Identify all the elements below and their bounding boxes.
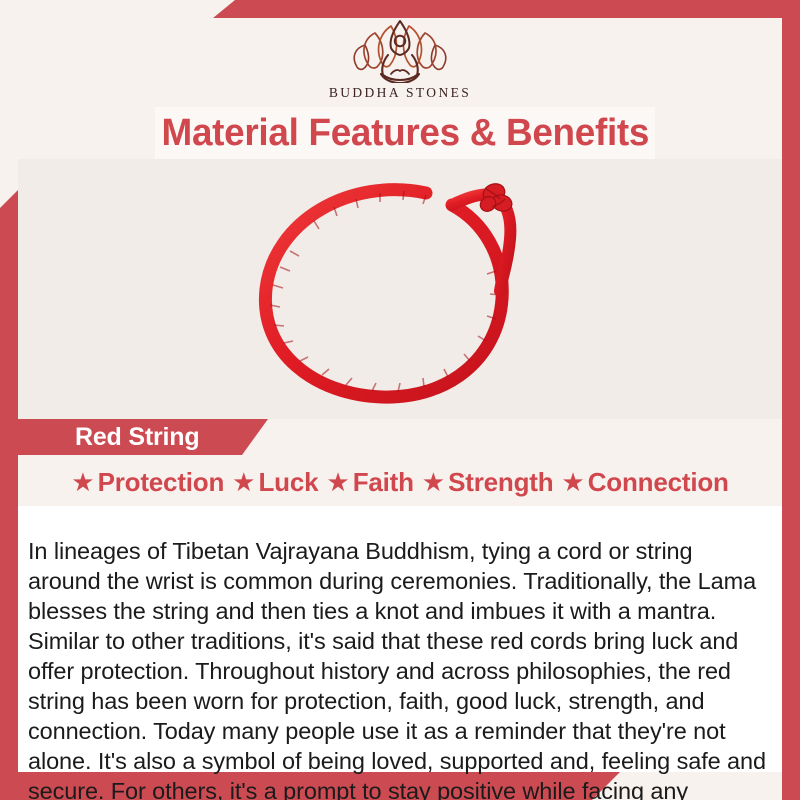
page-title-box: Material Features & Benefits xyxy=(155,107,655,159)
page-title: Material Features & Benefits xyxy=(161,112,649,155)
description-text: In lineages of Tibetan Vajrayana Buddhis… xyxy=(28,536,768,800)
red-braided-string-bracelet-icon xyxy=(18,159,782,419)
left-red-strip xyxy=(0,190,18,800)
star-icon: ★ xyxy=(71,469,94,495)
benefit-item: ★ Protection xyxy=(71,467,224,498)
product-image xyxy=(18,159,782,419)
benefit-label: Connection xyxy=(588,467,729,498)
star-icon: ★ xyxy=(326,469,349,495)
benefit-label: Protection xyxy=(98,467,225,498)
benefit-item: ★ Faith xyxy=(326,467,413,498)
star-icon: ★ xyxy=(561,469,584,495)
benefit-label: Strength xyxy=(448,467,553,498)
lotus-meditation-icon xyxy=(341,17,459,83)
benefit-item: ★ Strength xyxy=(422,467,554,498)
product-name: Red String xyxy=(75,423,199,452)
benefit-item: ★ Connection xyxy=(561,467,728,498)
benefit-label: Luck xyxy=(258,467,318,498)
brand-name: BUDDHA STONES xyxy=(329,85,471,101)
brand-logo: BUDDHA STONES xyxy=(329,17,471,107)
infographic-poster: BUDDHA STONES Material Features & Benefi… xyxy=(0,0,800,800)
product-name-banner: Red String xyxy=(18,419,268,455)
star-icon: ★ xyxy=(232,469,255,495)
star-icon: ★ xyxy=(422,469,445,495)
benefit-item: ★ Luck xyxy=(232,467,318,498)
benefits-row: ★ Protection ★ Luck ★ Faith ★ Strength ★… xyxy=(18,458,782,506)
description-panel: In lineages of Tibetan Vajrayana Buddhis… xyxy=(18,506,782,772)
right-red-strip xyxy=(782,0,800,800)
benefit-label: Faith xyxy=(353,467,414,498)
brand-header: BUDDHA STONES xyxy=(0,0,800,107)
